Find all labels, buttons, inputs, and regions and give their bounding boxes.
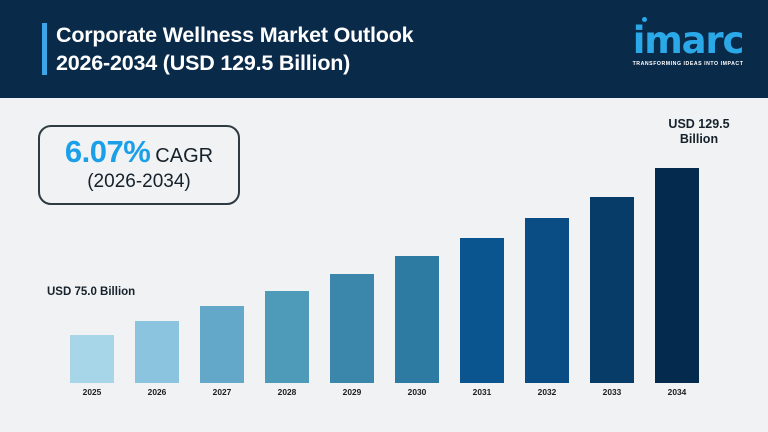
bar-label-2033: 2033 xyxy=(590,387,634,397)
bar-label-2027: 2027 xyxy=(200,387,244,397)
bar-label-2029: 2029 xyxy=(330,387,374,397)
bar-label-2025: 2025 xyxy=(70,387,114,397)
bar-2028 xyxy=(265,291,309,383)
bar-2030 xyxy=(395,256,439,383)
bar-label-2034: 2034 xyxy=(655,387,699,397)
bar-label-2032: 2032 xyxy=(525,387,569,397)
bar-2032 xyxy=(525,218,569,383)
bar-2034 xyxy=(655,168,699,383)
bar-2027 xyxy=(200,306,244,383)
bar-2026 xyxy=(135,321,179,383)
bar-label-2030: 2030 xyxy=(395,387,439,397)
bar-label-2026: 2026 xyxy=(135,387,179,397)
infographic-root: Corporate Wellness Market Outlook 2026-2… xyxy=(0,0,768,432)
bar-2031 xyxy=(460,238,504,383)
bar-2025 xyxy=(70,335,114,383)
bar-label-2031: 2031 xyxy=(460,387,504,397)
bar-label-2028: 2028 xyxy=(265,387,309,397)
bar-2033 xyxy=(590,197,634,384)
bar-2029 xyxy=(330,274,374,383)
bar-chart: 2025202620272028202920302031203220332034 xyxy=(0,0,768,432)
